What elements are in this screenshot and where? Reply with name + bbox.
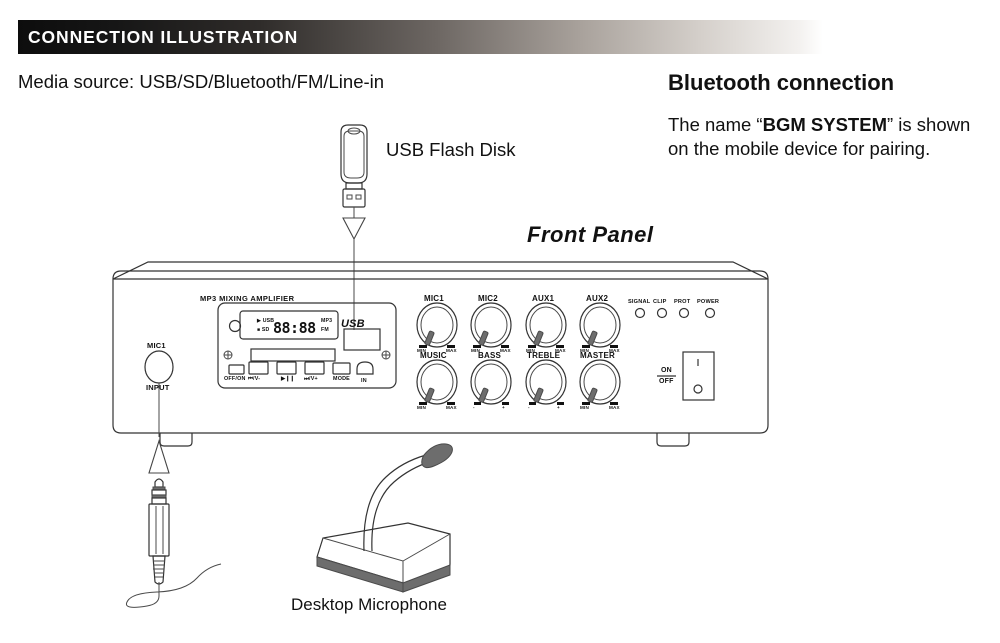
lcd-indicator-usb: ▶ USB [257, 318, 274, 324]
button-label-play-pause[interactable]: ▶❙❙ [281, 376, 295, 382]
knob-min-bass: - [473, 405, 475, 410]
lcd-indicator-sd: ■ SD [257, 327, 270, 333]
knob-max-treble: + [557, 405, 560, 410]
knob-mic1[interactable] [417, 303, 457, 348]
knob-max-music: MAX [446, 405, 457, 410]
power-switch-label-off: OFF [659, 378, 674, 385]
lcd-indicator-mp3: MP3 [321, 318, 332, 324]
knob-max-mic2: MAX [500, 348, 511, 353]
lcd-digits: 88:88 [273, 319, 316, 337]
button-label-in[interactable]: IN [361, 378, 367, 384]
mic1-jack-sublabel: INPUT [146, 383, 170, 392]
power-switch[interactable] [657, 352, 714, 400]
knob-music[interactable] [417, 360, 457, 405]
usb-slot-label: USB [341, 318, 365, 330]
knob-min-treble: - [528, 405, 530, 410]
trs-plug-icon [126, 479, 221, 607]
knob-bass[interactable] [471, 360, 511, 405]
knob-label-treble: TREBLE [527, 351, 560, 360]
amplifier-brand-text: MP3 MIXING AMPLIFIER [200, 294, 294, 303]
knob-treble[interactable] [526, 360, 566, 405]
knob-label-music: MUSIC [420, 351, 447, 360]
knob-label-aux1: AUX1 [532, 294, 554, 303]
knob-label-mic2: MIC2 [478, 294, 498, 303]
led-label-signal: SIGNAL [628, 299, 650, 305]
knob-aux1[interactable] [526, 303, 566, 348]
knob-label-aux2: AUX2 [586, 294, 608, 303]
knob-min-master: MIN [580, 405, 589, 410]
button-label-next-volup[interactable]: ⏭/V+ [304, 376, 318, 383]
connection-illustration-page: CONNECTION ILLUSTRATION Media source: US… [0, 0, 1000, 643]
knob-label-bass: BASS [478, 351, 501, 360]
mic1-jack-label: MIC1 [147, 341, 166, 350]
mic1-input-jack[interactable] [145, 351, 173, 473]
knob-label-master: MASTER [580, 351, 615, 360]
knob-mic2[interactable] [471, 303, 511, 348]
button-label-prev-voldown[interactable]: ⏮/V- [248, 376, 260, 383]
desktop-microphone-icon [317, 444, 452, 592]
knob-aux2[interactable] [580, 303, 620, 348]
illustration-svg [0, 0, 1000, 643]
usb-flash-drive-icon [341, 125, 367, 330]
led-label-clip: CLIP [653, 299, 667, 305]
knob-max-mic1: MAX [446, 348, 457, 353]
button-label-off-on[interactable]: OFF/ON [224, 376, 246, 382]
knob-max-master: MAX [609, 405, 620, 410]
lcd-indicator-fm: FM [321, 327, 329, 333]
power-switch-label-on: ON [661, 367, 672, 374]
knob-label-mic1: MIC1 [424, 294, 444, 303]
knob-max-bass: + [502, 405, 505, 410]
led-indicators [636, 309, 715, 318]
knob-master[interactable] [580, 360, 620, 405]
button-label-mode[interactable]: MODE [333, 376, 350, 382]
led-label-prot: PROT [674, 299, 690, 305]
knob-min-music: MIN [417, 405, 426, 410]
led-label-power: POWER [697, 299, 719, 305]
